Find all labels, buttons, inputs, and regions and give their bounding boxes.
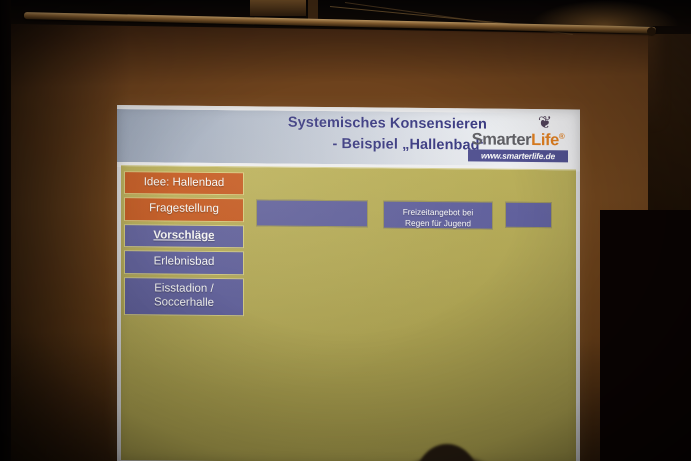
slide-title-line1: Systemisches Konsensieren — [288, 115, 487, 133]
slide-title-line2: - Beispiel „Hallenbad“ — [157, 132, 487, 156]
content-box-1 — [256, 199, 368, 227]
nav-button-fragestellung: Fragestellung — [124, 197, 244, 222]
nav-button-eisstadion-soccerhalle: Eisstadion / Soccerhalle — [124, 277, 244, 317]
nav-button-eisstadion-line2: Soccerhalle — [154, 296, 214, 309]
registered-mark-icon: ® — [559, 132, 565, 141]
content-box-2-line2: Regen für Jugend — [384, 218, 492, 230]
ceiling-bracket — [250, 0, 306, 16]
nav-button-erlebnisbad: Erlebnisbad — [124, 250, 244, 275]
dark-left-edge — [0, 0, 11, 461]
content-box-1-line2 — [257, 205, 367, 206]
ceiling-bracket-post — [308, 0, 318, 20]
slide-header: Systemisches Konsensieren - Beispiel „Ha… — [117, 105, 580, 171]
nav-button-idee-hallenbad: Idee: Hallenbad — [124, 171, 244, 196]
content-box-row: Freizeitangebot bei Regen für Jugend — [256, 199, 572, 236]
slide-title: Systemisches Konsensieren - Beispiel „Ha… — [157, 111, 487, 156]
slide-nav-stack: Idee: Hallenbad Fragestellung Vorschläge… — [124, 171, 244, 319]
content-box-1-line1 — [257, 205, 367, 206]
content-box-3 — [505, 202, 552, 228]
butterfly-icon: ❦ — [534, 115, 556, 131]
logo-word-smarter: Smarter — [472, 130, 532, 149]
screen-roller-endcap — [647, 27, 656, 36]
nav-button-eisstadion-line1: Eisstadion / — [154, 282, 213, 295]
slide-body: Idee: Hallenbad Fragestellung Vorschläge… — [121, 165, 576, 461]
content-box-2: Freizeitangebot bei Regen für Jugend — [383, 201, 493, 230]
logo-word-life: Life — [531, 131, 559, 149]
logo-url-bar: www.smarterlife.de — [468, 149, 568, 162]
smarterlife-logo: ❦ SmarterLife® www.smarterlife.de — [464, 116, 572, 167]
logo-wordmark: SmarterLife® — [464, 130, 572, 150]
photo-scene: Systemisches Konsensieren - Beispiel „Ha… — [0, 0, 691, 461]
dark-room-corner — [600, 210, 691, 461]
nav-button-vorschlaege: Vorschläge — [124, 224, 244, 249]
projected-slide: Systemisches Konsensieren - Beispiel „Ha… — [117, 105, 580, 461]
ceiling-light-smudge — [530, 0, 680, 26]
